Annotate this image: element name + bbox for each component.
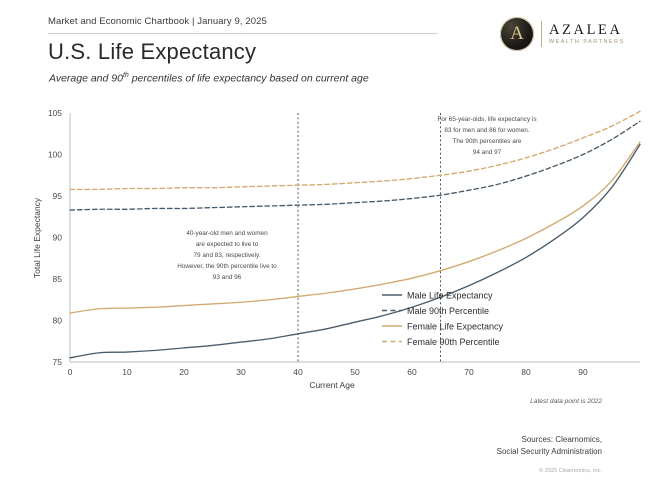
subtitle-part-2: percentiles of life expectancy based on …: [129, 73, 369, 85]
x-tick-label: 90: [578, 367, 588, 377]
page-subtitle: Average and 90th percentiles of life exp…: [49, 72, 369, 85]
x-tick-label: 10: [122, 367, 132, 377]
x-axis-tick-labels: 0102030405060708090: [68, 367, 588, 377]
life-expectancy-line-chart: 7580859095100105 0102030405060708090 Tot…: [0, 95, 650, 395]
y-tick-label: 105: [48, 108, 62, 118]
legend-label-0: Male Life Expectancy: [407, 290, 493, 300]
x-tick-label: 60: [407, 367, 417, 377]
x-tick-label: 20: [179, 367, 189, 377]
legend-label-3: Female 90th Percentile: [407, 337, 500, 347]
azalea-circle-icon: A: [500, 17, 534, 51]
sources-line-1: Sources: Clearnomics,: [497, 434, 602, 446]
chart-legend: Male Life ExpectancyMale 90th Percentile…: [382, 290, 504, 347]
series-line-3: [70, 111, 640, 189]
legend-label-2: Female Life Expectancy: [407, 321, 504, 331]
annotation-age-65: For 65-year-olds, life expectancy is 83 …: [437, 116, 536, 156]
logo-monogram: A: [500, 17, 534, 51]
series-line-0: [70, 145, 640, 358]
sources-note: Sources: Clearnomics, Social Security Ad…: [497, 434, 602, 457]
x-tick-label: 40: [293, 367, 303, 377]
x-axis-title: Current Age: [309, 380, 355, 390]
chart-series: [70, 111, 640, 358]
x-tick-label: 50: [350, 367, 360, 377]
legend-label-1: Male 90th Percentile: [407, 306, 489, 316]
x-tick-label: 80: [521, 367, 531, 377]
y-tick-label: 100: [48, 150, 62, 160]
series-line-1: [70, 121, 640, 210]
logo-tagline: WEALTH PARTNERS: [549, 40, 625, 45]
annotation-age-40-line-2: are expected to live to: [196, 241, 259, 248]
y-axis-tick-labels: 7580859095100105: [48, 108, 62, 367]
logo-wordmark: AZALEA WEALTH PARTNERS: [549, 23, 625, 46]
y-tick-label: 75: [53, 357, 63, 367]
page-title: U.S. Life Expectancy: [48, 39, 256, 65]
chart-page: Market and Economic Chartbook | January …: [0, 0, 650, 488]
y-axis-title: Total Life Expectancy: [32, 197, 42, 278]
x-tick-label: 70: [464, 367, 474, 377]
y-tick-label: 80: [53, 316, 63, 326]
annotation-age-65-line-4: 94 and 97: [473, 149, 502, 156]
y-tick-label: 95: [53, 191, 63, 201]
brand-logo: A AZALEA WEALTH PARTNERS: [500, 17, 625, 51]
annotation-age-40: 40-year-old men and women are expected t…: [177, 230, 277, 281]
copyright-note: © 2025 Clearnomics, Inc.: [539, 468, 602, 474]
latest-data-note: Latest data point is 2022: [530, 398, 602, 405]
annotation-age-40-line-4: However, the 90th percentile live to: [177, 263, 277, 270]
series-line-2: [70, 142, 640, 313]
chart-container: 7580859095100105 0102030405060708090 Tot…: [0, 95, 650, 395]
y-tick-label: 90: [53, 233, 63, 243]
subtitle-part-1: Average and 90: [49, 73, 123, 85]
annotation-age-65-line-2: 83 for men and 86 for women.: [444, 127, 529, 134]
sources-line-2: Social Security Administration: [497, 446, 602, 458]
annotation-age-65-line-3: The 90th percentiles are: [453, 138, 522, 145]
y-tick-label: 85: [53, 274, 63, 284]
annotation-age-65-line-1: For 65-year-olds, life expectancy is: [437, 116, 536, 123]
annotation-age-40-line-3: 79 and 83, respectively.: [193, 252, 260, 259]
annotation-age-40-line-1: 40-year-old men and women: [186, 230, 268, 237]
annotation-age-40-line-5: 93 and 96: [213, 274, 242, 281]
logo-brand-name: AZALEA: [549, 23, 625, 38]
x-tick-label: 30: [236, 367, 246, 377]
x-tick-label: 0: [68, 367, 73, 377]
logo-divider: [541, 21, 542, 47]
header-divider: [48, 33, 438, 34]
